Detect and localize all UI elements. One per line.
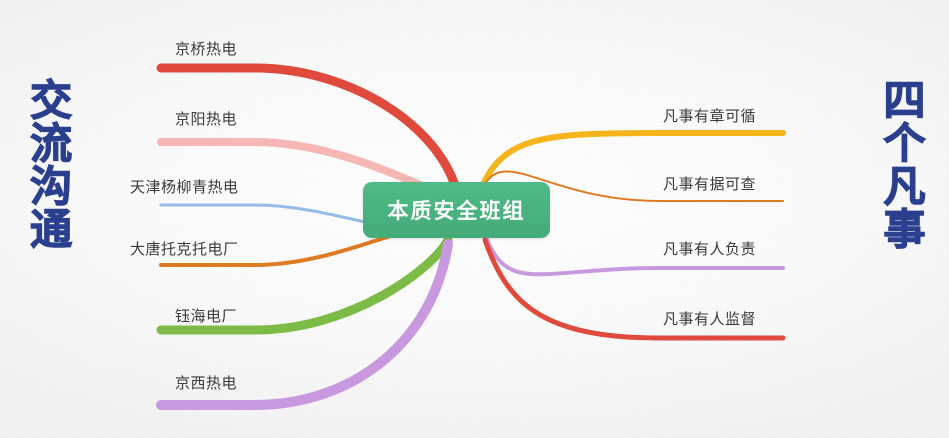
right-branch-label-2[interactable]: 凡事有人负责 <box>663 238 756 259</box>
left-branch-label-5[interactable]: 京西热电 <box>175 372 237 393</box>
left-branch-label-0[interactable]: 京桥热电 <box>175 38 237 59</box>
left-branch-label-1[interactable]: 京阳热电 <box>175 108 237 129</box>
left-branch-label-4[interactable]: 钰海电厂 <box>175 305 237 326</box>
right-branch-label-1[interactable]: 凡事有据可查 <box>663 173 756 194</box>
center-node-label: 本质安全班组 <box>388 195 526 225</box>
left-branch-label-2[interactable]: 天津杨柳青热电 <box>130 176 239 197</box>
right-branch-label-3[interactable]: 凡事有人监督 <box>663 308 756 329</box>
side-title-right: 四个凡事 <box>879 78 923 250</box>
center-node[interactable]: 本质安全班组 <box>363 182 550 238</box>
side-title-left: 交流沟通 <box>26 78 70 250</box>
mindmap-canvas: 交流沟通 四个凡事 京桥热电京阳热电天津杨柳青热电大唐托克托电厂钰海电厂京西热电… <box>0 0 949 438</box>
left-branch-label-3[interactable]: 大唐托克托电厂 <box>130 238 239 259</box>
right-branch-label-0[interactable]: 凡事有章可循 <box>663 105 756 126</box>
